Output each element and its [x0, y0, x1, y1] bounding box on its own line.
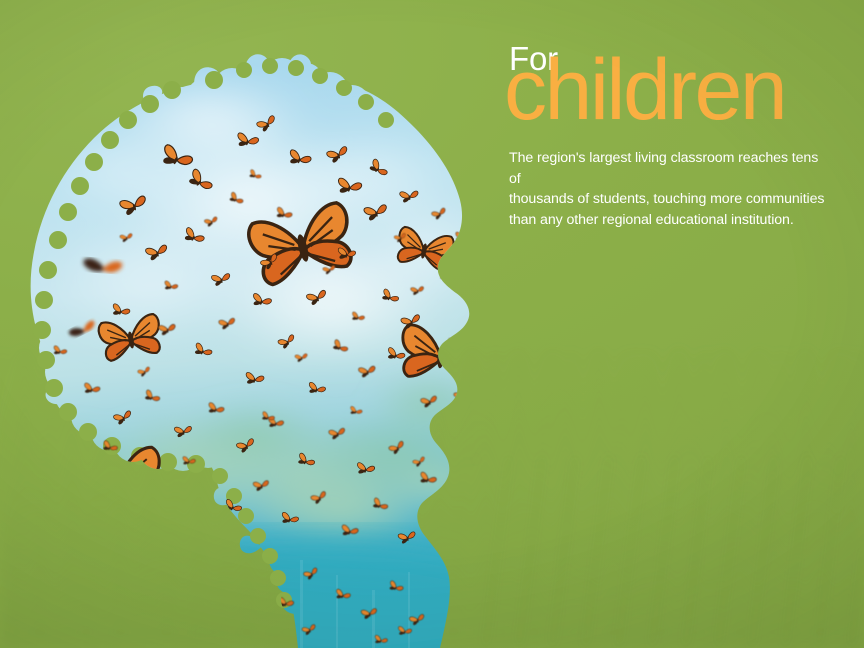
background-vignette — [0, 0, 864, 648]
poster-canvas: For children The region's largest living… — [0, 0, 864, 648]
